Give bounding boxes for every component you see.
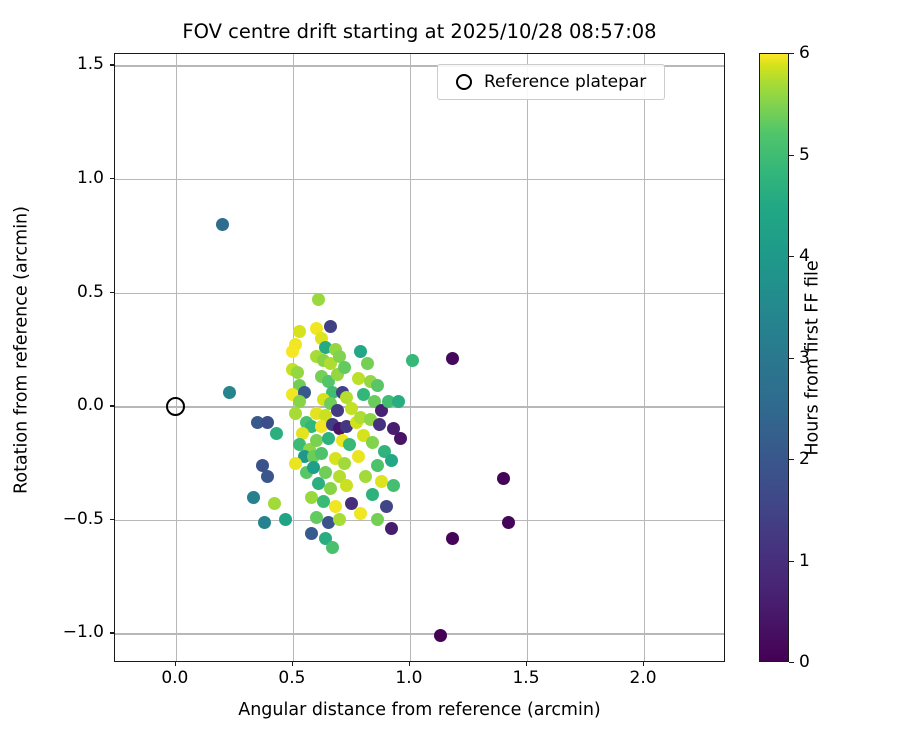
data-point (268, 497, 281, 510)
data-point (310, 434, 323, 447)
data-point (387, 479, 400, 492)
gridline-vertical-4 (644, 54, 645, 661)
legend-item-label: Reference platepar (484, 72, 652, 92)
data-point (371, 513, 384, 526)
x-tick-mark (643, 662, 644, 666)
data-point (326, 541, 339, 554)
y-tick-label: 1.5 (38, 54, 104, 74)
data-point (310, 511, 323, 524)
data-point (385, 454, 398, 467)
gridline-vertical-0 (176, 54, 177, 661)
reference-platepar-point (166, 397, 185, 416)
x-tick-label: 1.5 (496, 668, 556, 688)
colorbar-tick-mark (789, 155, 794, 156)
data-point (261, 470, 274, 483)
y-tick-mark (110, 292, 114, 293)
data-point (333, 513, 346, 526)
data-point (380, 500, 393, 513)
data-point (497, 472, 510, 485)
plot-area (114, 53, 725, 662)
data-point (371, 379, 384, 392)
x-tick-mark (292, 662, 293, 666)
data-point (279, 513, 292, 526)
reference-platepar-marker-icon (456, 74, 472, 90)
y-tick-label: 0.0 (38, 395, 104, 415)
x-tick-mark (526, 662, 527, 666)
colorbar-tick-mark (789, 459, 794, 460)
y-tick-mark (110, 64, 114, 65)
y-tick-mark (110, 519, 114, 520)
legend: Reference platepar (437, 64, 665, 100)
data-point (324, 320, 337, 333)
data-point (373, 418, 386, 431)
y-tick-label: 0.5 (38, 282, 104, 302)
gridline-vertical-3 (527, 54, 528, 661)
data-point (247, 491, 260, 504)
data-point (317, 495, 330, 508)
y-tick-mark (110, 178, 114, 179)
data-point (366, 488, 379, 501)
data-point (338, 457, 351, 470)
data-point (329, 500, 342, 513)
x-tick-mark (175, 662, 176, 666)
gridline-horizontal-2 (115, 406, 724, 407)
data-point (322, 432, 335, 445)
data-point (293, 325, 306, 338)
data-point (406, 354, 419, 367)
colorbar-tick-mark (789, 561, 794, 562)
colorbar-label: Hours from first FF file (803, 54, 823, 663)
colorbar-tick-mark (789, 256, 794, 257)
x-tick-label: 0.0 (145, 668, 205, 688)
x-tick-label: 1.0 (379, 668, 439, 688)
chart-figure: FOV centre drift starting at 2025/10/28 … (0, 0, 900, 750)
y-tick-label: −0.5 (38, 509, 104, 529)
data-point (352, 450, 365, 463)
gridline-horizontal-3 (115, 293, 724, 294)
data-point (258, 516, 271, 529)
data-point (338, 361, 351, 374)
data-point (223, 386, 236, 399)
data-point (343, 438, 356, 451)
gridline-horizontal-4 (115, 179, 724, 180)
colorbar (759, 53, 789, 662)
data-point (366, 436, 379, 449)
data-point (340, 479, 353, 492)
data-point (289, 457, 302, 470)
colorbar-gradient (759, 53, 789, 662)
data-point (289, 407, 302, 420)
data-point (446, 352, 459, 365)
data-point (270, 427, 283, 440)
data-point (394, 432, 407, 445)
y-tick-mark (110, 405, 114, 406)
data-point (371, 459, 384, 472)
y-tick-mark (110, 632, 114, 633)
data-point (261, 416, 274, 429)
data-point (291, 366, 304, 379)
data-point (352, 372, 365, 385)
y-tick-label: −1.0 (38, 622, 104, 642)
colorbar-tick-mark (789, 662, 794, 663)
y-tick-label: 1.0 (38, 168, 104, 188)
colorbar-tick-mark (789, 53, 794, 54)
gridline-horizontal-0 (115, 633, 724, 634)
data-point (331, 404, 344, 417)
data-point (315, 447, 328, 460)
data-point (502, 516, 515, 529)
data-point (434, 629, 447, 642)
data-point (324, 482, 337, 495)
x-axis-label: Angular distance from reference (arcmin) (114, 700, 725, 720)
x-tick-mark (409, 662, 410, 666)
x-tick-label: 2.0 (613, 668, 673, 688)
data-point (392, 395, 405, 408)
colorbar-tick-mark (789, 358, 794, 359)
data-point (286, 345, 299, 358)
page-title: FOV centre drift starting at 2025/10/28 … (114, 20, 725, 44)
data-point (354, 507, 367, 520)
data-point (359, 470, 372, 483)
y-axis-label: Rotation from reference (arcmin) (12, 46, 32, 655)
data-point (446, 532, 459, 545)
gridline-horizontal-1 (115, 520, 724, 521)
data-point (216, 218, 229, 231)
x-tick-label: 0.5 (262, 668, 322, 688)
data-point (385, 522, 398, 535)
data-point (312, 293, 325, 306)
data-point (361, 357, 374, 370)
data-point (305, 527, 318, 540)
